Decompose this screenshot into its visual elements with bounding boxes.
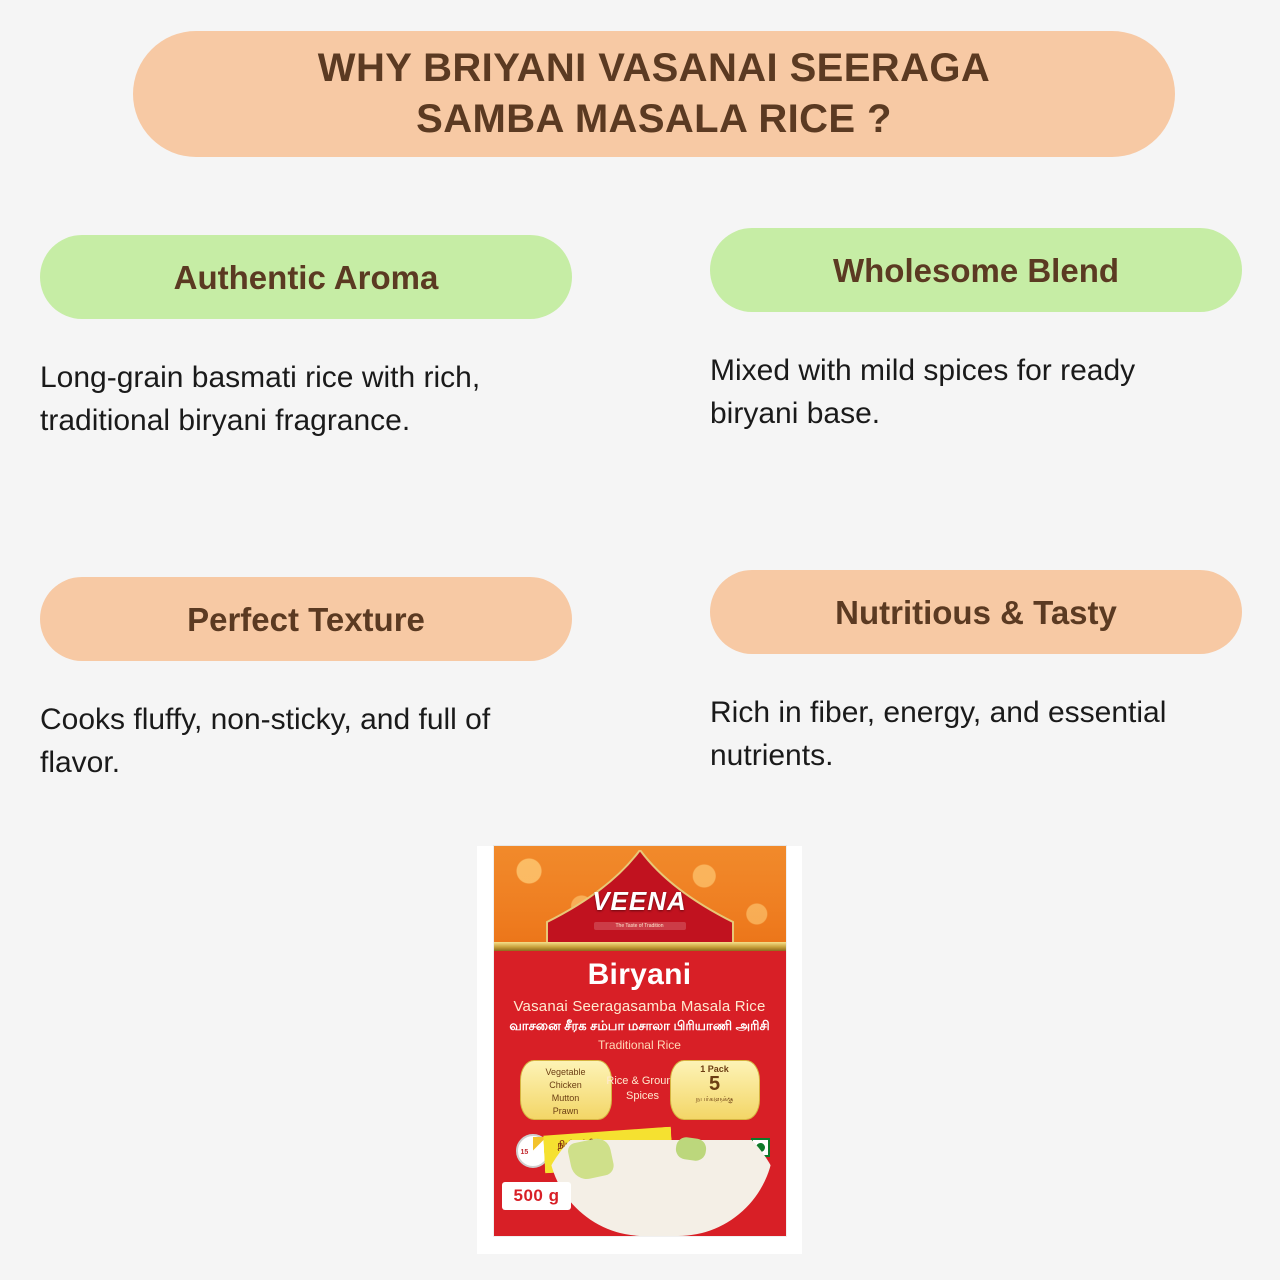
product-subtitle: Vasanai Seeragasamba Masala Rice — [494, 998, 786, 1015]
brand-tagline: The Taste of Tradition — [594, 922, 686, 930]
variant-chicken: Chicken — [521, 1079, 611, 1092]
brand-name: VEENA — [592, 886, 687, 917]
feature-card-wholesome-blend: Wholesome Blend Mixed with mild spices f… — [710, 228, 1242, 435]
product-name: Biryani — [494, 958, 786, 992]
feature-card-authentic-aroma: Authentic Aroma Long-grain basmati rice … — [40, 235, 572, 442]
feature-pill-wholesome-blend: Wholesome Blend — [710, 228, 1242, 312]
clock-minutes: 15 — [521, 1149, 529, 1156]
package-header-damask: VEENA The Taste of Tradition — [494, 846, 786, 946]
feature-description: Mixed with mild spices for ready biryani… — [710, 350, 1210, 435]
feature-description: Cooks fluffy, non-sticky, and full of fl… — [40, 699, 565, 784]
product-image-container: VEENA The Taste of Tradition Biryani Vas… — [477, 846, 802, 1254]
variant-mutton: Mutton — [521, 1092, 611, 1105]
serving-badge-number: 5 — [671, 1074, 759, 1095]
feature-card-nutritious-tasty: Nutritious & Tasty Rich in fiber, energy… — [710, 570, 1242, 777]
feature-title: Perfect Texture — [187, 603, 425, 636]
serving-badge-tamil: நபர்களுக்கு — [671, 1095, 759, 1104]
feature-card-perfect-texture: Perfect Texture Cooks fluffy, non-sticky… — [40, 577, 572, 784]
feature-description: Long-grain basmati rice with rich, tradi… — [40, 357, 565, 442]
variant-prawn: Prawn — [521, 1105, 611, 1118]
gold-divider — [494, 942, 786, 951]
feature-title: Authentic Aroma — [174, 261, 439, 294]
biryani-photo — [536, 1104, 786, 1236]
product-package: VEENA The Taste of Tradition Biryani Vas… — [494, 846, 786, 1236]
net-weight-label: 500 g — [502, 1182, 572, 1210]
feature-pill-nutritious-tasty: Nutritious & Tasty — [710, 570, 1242, 654]
infographic-page: WHY BRIYANI VASANAI SEERAGA SAMBA MASALA… — [0, 0, 1280, 1280]
feature-title: Nutritious & Tasty — [835, 596, 1117, 629]
variants-badge: Vegetable Chicken Mutton Prawn — [520, 1060, 612, 1120]
feature-pill-perfect-texture: Perfect Texture — [40, 577, 572, 661]
feature-description: Rich in fiber, energy, and essential nut… — [710, 692, 1210, 777]
variant-vegetable: Vegetable — [521, 1066, 611, 1079]
feature-title: Wholesome Blend — [833, 254, 1119, 287]
product-subtitle-tamil: வாசனை சீரக சம்பா மசாலா பிரியாணி அரிசி — [494, 1018, 786, 1035]
product-descriptor: Traditional Rice — [494, 1038, 786, 1052]
feature-pill-authentic-aroma: Authentic Aroma — [40, 235, 572, 319]
